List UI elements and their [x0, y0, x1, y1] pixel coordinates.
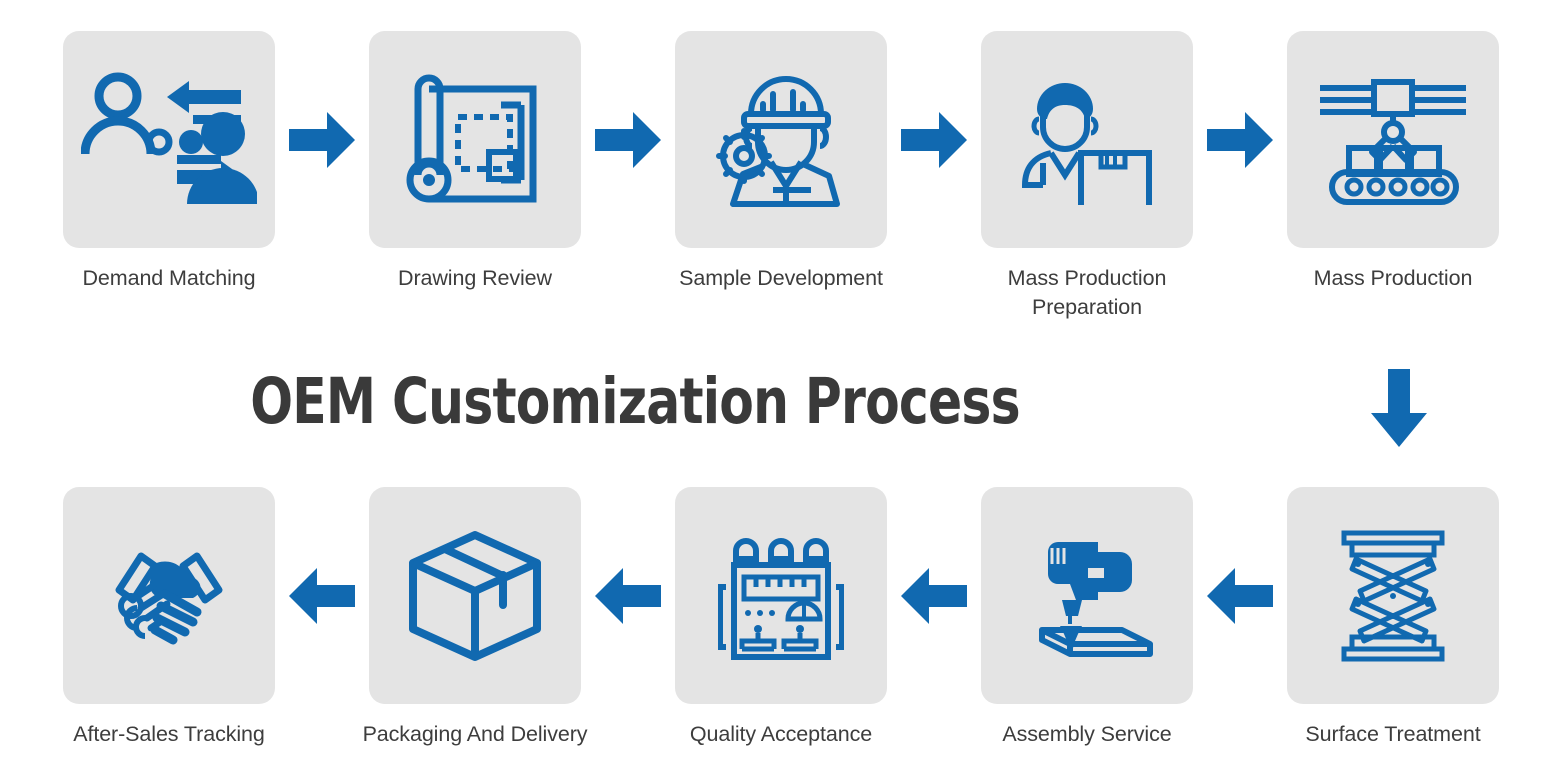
- step-label: After-Sales Tracking: [39, 720, 299, 749]
- package-box-icon: [405, 529, 545, 663]
- step-label: Sample Development: [651, 264, 911, 293]
- step-card: [1287, 31, 1499, 248]
- power-drill-icon: [1014, 526, 1160, 666]
- sample-development-icon: [711, 70, 851, 210]
- step-card: [981, 487, 1193, 704]
- step-packaging-and-delivery[interactable]: Packaging And Delivery: [369, 487, 581, 749]
- arrow-down-icon: [1371, 369, 1427, 447]
- quality-inspection-icon: [718, 529, 844, 663]
- connector-arrow-down: [1356, 363, 1442, 453]
- step-label: Quality Acceptance: [651, 720, 911, 749]
- connector-arrow-right: [275, 31, 369, 248]
- step-label: Demand Matching: [39, 264, 299, 293]
- step-after-sales-tracking[interactable]: After-Sales Tracking: [63, 487, 275, 749]
- step-card: [63, 487, 275, 704]
- step-card: [981, 31, 1193, 248]
- step-card: [675, 487, 887, 704]
- step-card: [369, 31, 581, 248]
- step-card: [1287, 487, 1499, 704]
- arrow-right-icon: [1207, 112, 1273, 168]
- step-label: Assembly Service: [957, 720, 1217, 749]
- mass-production-icon: [1318, 74, 1468, 206]
- step-assembly-service[interactable]: Assembly Service: [981, 487, 1193, 749]
- arrow-left-icon: [1207, 568, 1273, 624]
- step-label: Drawing Review: [345, 264, 605, 293]
- arrow-left-icon: [901, 568, 967, 624]
- connector-arrow-right: [887, 31, 981, 248]
- connector-arrow-right: [581, 31, 675, 248]
- process-flow-diagram: Demand Matching: [0, 0, 1562, 777]
- arrow-right-icon: [901, 112, 967, 168]
- bottom-row: After-Sales Tracking Packaging And Deliv…: [0, 487, 1562, 749]
- step-label: Mass Production Preparation: [957, 264, 1217, 322]
- step-mass-production-preparation[interactable]: Mass Production Preparation: [981, 31, 1193, 322]
- demand-matching-icon: [81, 70, 257, 210]
- mass-production-preparation-icon: [1017, 75, 1157, 205]
- step-label: Mass Production: [1263, 264, 1523, 293]
- arrow-right-icon: [595, 112, 661, 168]
- step-quality-acceptance[interactable]: Quality Acceptance: [675, 487, 887, 749]
- step-mass-production[interactable]: Mass Production: [1287, 31, 1499, 293]
- step-card: [369, 487, 581, 704]
- connector-arrow-left: [887, 487, 981, 704]
- page-title: OEM Customization Process: [127, 361, 1143, 443]
- handshake-icon: [93, 536, 245, 656]
- arrow-right-icon: [289, 112, 355, 168]
- arrow-left-icon: [289, 568, 355, 624]
- step-sample-development[interactable]: Sample Development: [675, 31, 887, 293]
- connector-arrow-left: [275, 487, 369, 704]
- connector-arrow-right: [1193, 31, 1287, 248]
- step-card: [675, 31, 887, 248]
- top-row: Demand Matching: [0, 31, 1562, 322]
- connector-arrow-left: [1193, 487, 1287, 704]
- arrow-left-icon: [595, 568, 661, 624]
- drawing-review-icon: [405, 70, 545, 210]
- step-drawing-review[interactable]: Drawing Review: [369, 31, 581, 293]
- step-card: [63, 31, 275, 248]
- step-demand-matching[interactable]: Demand Matching: [63, 31, 275, 293]
- scissor-lift-icon: [1338, 529, 1448, 663]
- connector-arrow-left: [581, 487, 675, 704]
- step-label: Surface Treatment: [1263, 720, 1523, 749]
- step-label: Packaging And Delivery: [345, 720, 605, 749]
- step-surface-treatment[interactable]: Surface Treatment: [1287, 487, 1499, 749]
